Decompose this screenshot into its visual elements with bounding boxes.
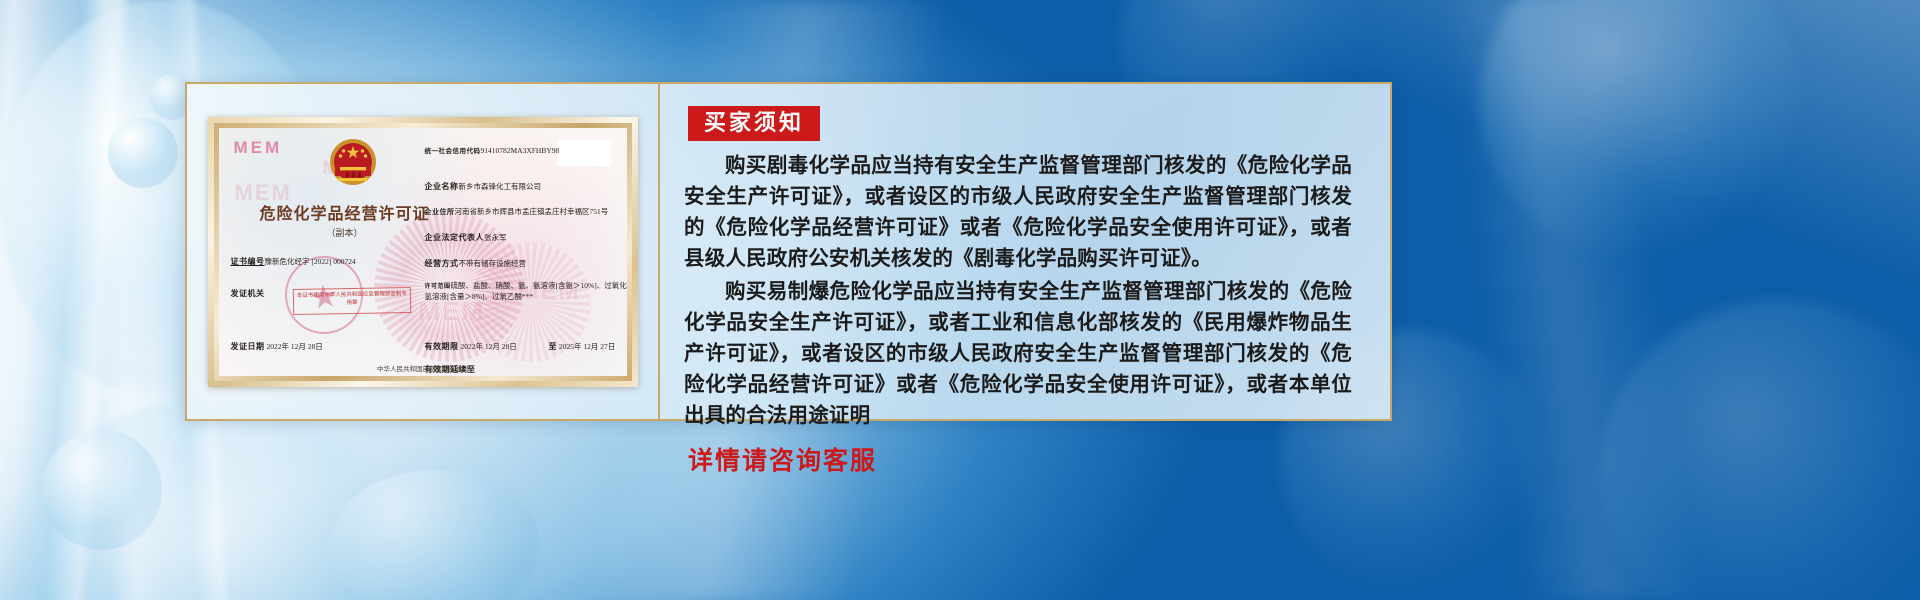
cert-field-key: 发证日期: [231, 342, 265, 351]
cert-field-value: 91410782MA3XFHBY98: [481, 146, 560, 155]
certificate-container[interactable]: MEM MEM MEM MEM MEM: [187, 84, 660, 419]
cert-field-key: 企业住所: [425, 208, 455, 216]
cert-field-validity-end: 至 2025年 12月 27日: [549, 341, 616, 352]
cert-field-key: 经营方式: [425, 259, 459, 268]
certificate-image[interactable]: MEM MEM MEM MEM MEM: [208, 117, 638, 387]
cert-field-value: 不带有储存设施经营: [459, 259, 527, 268]
water-drop-decor: [108, 118, 178, 188]
cert-field-value: 2022年 12月 28日: [267, 342, 323, 351]
cert-field-credit-code: 统一社会信用代码91410782MA3XFHBY98: [425, 145, 560, 155]
certificate-footer: 中华人民共和国应急管理部监制: [219, 363, 627, 373]
cert-field-value: 硫酸、盐酸、硝酸、氨、氨溶液[含氨＞10%]、过氧化氢溶液[含量＞8%]、过氧乙…: [425, 281, 627, 301]
cert-field-key: 企业名称: [425, 182, 459, 191]
notice-paragraph-1: 购买剧毒化学品应当持有安全生产监督管理部门核发的《危险化学品安全生产许可证》，或…: [684, 150, 1352, 274]
cert-field-value: 2025年 12月 27日: [559, 342, 615, 351]
cert-field-value: 张永军: [484, 233, 507, 242]
water-drop-decor: [42, 430, 162, 550]
cert-field-issuing-authority: 发证机关: [231, 288, 265, 299]
cert-field-company-name: 企业名称新乡市森锋化工有限公司: [425, 181, 542, 192]
cert-field-permitted-scope: 许可范围硫酸、盐酸、硝酸、氨、氨溶液[含氨＞10%]、过氧化氢溶液[含量＞8%]…: [425, 280, 627, 302]
redaction-box: [557, 140, 611, 166]
cert-field-key: 有效期限: [425, 342, 459, 351]
seal-caption: 本证书使用中华人民共和国应急管理部监制专用章: [292, 286, 410, 314]
cert-field-key: 至: [549, 342, 558, 351]
cert-field-key: 企业法定代表人: [425, 233, 485, 242]
cert-field-key: 发证机关: [231, 289, 265, 298]
cert-field-value: 2022年 12月 28日: [461, 342, 517, 351]
notice-content: 买家须知 购买剧毒化学品应当持有安全生产监督管理部门核发的《危险化学品安全生产许…: [660, 84, 1390, 419]
cert-field-key: 证书编号: [231, 257, 265, 266]
certificate-face: MEM MEM MEM MEM MEM: [219, 128, 627, 376]
cert-field-issue-date: 发证日期 2022年 12月 28日: [231, 341, 323, 352]
cert-field-certificate-number: 证书编号豫新危化经字 [2022] 000724: [231, 256, 356, 267]
cert-field-validity-period: 有效期限 2022年 12月 28日: [425, 341, 517, 352]
national-emblem-icon: [327, 137, 379, 189]
cert-field-operation-mode: 经营方式不带有储存设施经营: [425, 258, 527, 269]
notice-panel: MEM MEM MEM MEM MEM: [185, 82, 1392, 421]
cert-field-key: 许可范围: [425, 284, 451, 290]
cert-field-value: 豫新危化经字 [2022] 000724: [265, 257, 356, 266]
cert-field-key: 统一社会信用代码: [425, 148, 481, 155]
cert-field-legal-representative: 企业法定代表人张永军: [425, 232, 507, 243]
notice-paragraph-2: 购买易制爆危险化学品应当持有安全生产监督管理部门核发的《危险化学品安全生产许可证…: [684, 276, 1352, 431]
cert-field-value: 新乡市森锋化工有限公司: [459, 182, 542, 191]
cert-field-company-address: 企业住所河南省新乡市辉县市孟庄镇孟庄村幸福区751号: [425, 206, 609, 217]
cert-field-value: 河南省新乡市辉县市孟庄镇孟庄村幸福区751号: [455, 207, 609, 216]
notice-badge: 买家须知: [688, 106, 820, 141]
mem-logo: MEM: [234, 138, 283, 158]
contact-support-cta[interactable]: 详情请咨询客服: [684, 441, 1352, 477]
